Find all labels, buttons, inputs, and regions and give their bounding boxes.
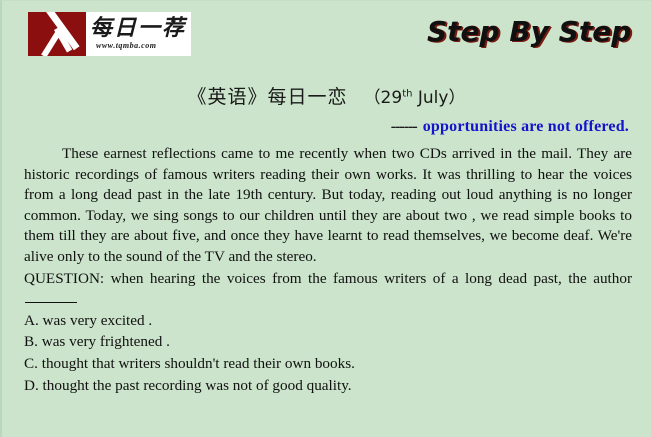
list-item[interactable]: D. thought the past recording was not of… bbox=[24, 375, 632, 397]
lesson-date-ordinal: th bbox=[402, 88, 412, 99]
slide-header: 每日一荐 www.tqmba.com Step By Step bbox=[2, 1, 651, 67]
list-item[interactable]: C. thought that writers shouldn't read t… bbox=[24, 353, 632, 375]
subtitle-dashes: ------ bbox=[391, 118, 417, 135]
lesson-title-chinese: 《英语》每日一恋 bbox=[188, 86, 348, 108]
brand-title: Step By Step bbox=[427, 15, 631, 48]
slide-canvas: 每日一荐 www.tqmba.com Step By Step 《英语》每日一恋… bbox=[0, 0, 651, 437]
lesson-date-open: （29 bbox=[364, 88, 403, 108]
lesson-body: These earnest reflections came to me rec… bbox=[24, 144, 632, 396]
list-item[interactable]: B. was very frightened . bbox=[24, 331, 632, 353]
answer-blank-rule bbox=[25, 289, 77, 303]
lesson-title-line: 《英语》每日一恋（29th July） bbox=[2, 82, 651, 109]
brand-logo: 每日一荐 www.tqmba.com bbox=[28, 12, 191, 56]
reading-paragraph: These earnest reflections came to me rec… bbox=[24, 144, 632, 268]
logo-website-url: www.tqmba.com bbox=[90, 39, 191, 50]
question-lead: QUESTION: when hearing the voices from t… bbox=[24, 268, 632, 310]
answer-options-list: A. was very excited . B. was very fright… bbox=[24, 310, 632, 396]
lesson-date-rest: July） bbox=[412, 88, 465, 108]
list-item[interactable]: A. was very excited . bbox=[24, 310, 632, 332]
lesson-date: （29th July） bbox=[364, 88, 466, 108]
logo-calligraphy-text: 每日一荐 bbox=[90, 12, 191, 39]
mountain-person-logo-icon bbox=[28, 12, 86, 56]
subtitle-row: ------opportunities are not offered. bbox=[2, 118, 629, 136]
question-text: QUESTION: when hearing the voices from t… bbox=[24, 270, 632, 287]
logo-text-panel: 每日一荐 www.tqmba.com bbox=[86, 12, 191, 56]
subtitle-phrase: opportunities are not offered. bbox=[423, 118, 629, 135]
